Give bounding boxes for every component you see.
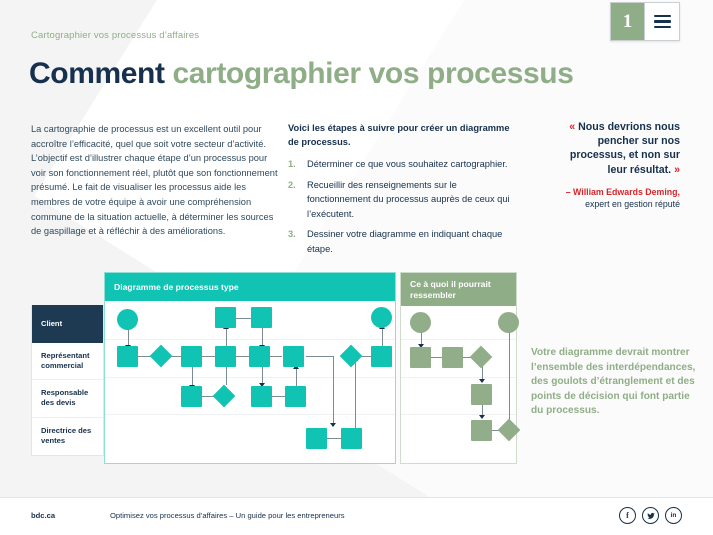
social-links: f in bbox=[619, 507, 682, 524]
twitter-icon[interactable] bbox=[642, 507, 659, 524]
main-panel-canvas bbox=[105, 301, 395, 464]
node-rep-task-4 bbox=[249, 346, 270, 367]
page-title: Comment cartographier vos processus bbox=[29, 57, 574, 91]
alt-node-decision-2 bbox=[498, 419, 521, 442]
page-title-green: cartographier vos processus bbox=[172, 57, 573, 90]
lane-label-quote-manager: Responsable des devis bbox=[32, 380, 103, 418]
pull-quote: « Nous devrions nous pencher sur nos pro… bbox=[550, 120, 680, 211]
node-end-client bbox=[371, 307, 392, 328]
quote-author-role: expert en gestion réputé bbox=[585, 199, 680, 209]
steps-lead: Voici les étapes à suivre pour créer un … bbox=[288, 121, 520, 149]
alt-node-task-2 bbox=[442, 347, 463, 368]
facebook-icon[interactable]: f bbox=[619, 507, 636, 524]
step-text: Déterminer ce que vous souhaitez cartogr… bbox=[307, 157, 508, 172]
page-badge[interactable]: 1 bbox=[610, 2, 680, 41]
intro-paragraph: La cartographie de processus est un exce… bbox=[31, 122, 281, 239]
lane-label-sales-director: Directrice des ventes bbox=[32, 418, 103, 456]
lane-label-sales-rep: Représentant commercial bbox=[32, 343, 103, 381]
quote-close-mark: » bbox=[674, 164, 680, 176]
footer-brand[interactable]: bdc.ca bbox=[31, 511, 55, 520]
step-number: 3. bbox=[288, 227, 300, 256]
lane-label-client: Client bbox=[32, 305, 103, 343]
slide-page: 1 Cartographier vos processus d’affaires… bbox=[0, 0, 713, 535]
node-rep-task-1 bbox=[117, 346, 138, 367]
node-quote-task-1 bbox=[181, 386, 202, 407]
alt-panel-canvas bbox=[401, 306, 516, 464]
alt-diagram-panel: Ce à quoi il pourrait ressembler bbox=[400, 272, 517, 464]
list-item: 1. Déterminer ce que vous souhaitez cart… bbox=[288, 157, 520, 172]
alt-node-task-3 bbox=[471, 384, 492, 405]
list-item: 3. Dessiner votre diagramme en indiquant… bbox=[288, 227, 520, 256]
node-rep-task-6 bbox=[371, 346, 392, 367]
node-rep-decision-1 bbox=[150, 345, 173, 368]
page-number: 1 bbox=[611, 3, 644, 40]
list-item: 2. Recueillir des renseignements sur le … bbox=[288, 178, 520, 222]
node-client-task-2 bbox=[251, 307, 272, 328]
alt-node-start bbox=[410, 312, 431, 333]
hamburger-icon[interactable] bbox=[644, 3, 679, 40]
breadcrumb-kicker: Cartographier vos processus d’affaires bbox=[31, 30, 199, 41]
step-text: Dessiner votre diagramme en indiquant ch… bbox=[307, 227, 520, 256]
lane-labels: Client Représentant commercial Responsab… bbox=[31, 305, 104, 456]
node-quote-task-3 bbox=[285, 386, 306, 407]
alt-node-task-4 bbox=[471, 420, 492, 441]
alt-panel-title: Ce à quoi il pourrait ressembler bbox=[401, 273, 516, 306]
steps-column: Voici les étapes à suivre pour créer un … bbox=[288, 121, 520, 263]
quote-author: – William Edwards Deming, bbox=[566, 187, 680, 197]
node-client-task-1 bbox=[215, 307, 236, 328]
step-text: Recueillir des renseignements sur le fon… bbox=[307, 178, 520, 222]
linkedin-icon[interactable]: in bbox=[665, 507, 682, 524]
steps-list: 1. Déterminer ce que vous souhaitez cart… bbox=[288, 157, 520, 257]
node-quote-task-2 bbox=[251, 386, 272, 407]
alt-node-decision-1 bbox=[470, 346, 493, 369]
footer-text: Optimisez vos processus d’affaires – Un … bbox=[110, 511, 345, 520]
quote-open-mark: « bbox=[569, 121, 575, 133]
node-rep-task-5 bbox=[283, 346, 304, 367]
footer: bdc.ca Optimisez vos processus d’affaire… bbox=[0, 498, 713, 535]
quote-text: Nous devrions nous pencher sur nos proce… bbox=[570, 121, 680, 176]
quote-text-block: « Nous devrions nous pencher sur nos pro… bbox=[550, 120, 680, 177]
node-rep-decision-2 bbox=[340, 345, 363, 368]
alt-node-task-1 bbox=[410, 347, 431, 368]
step-number: 1. bbox=[288, 157, 300, 172]
node-quote-decision-1 bbox=[213, 385, 236, 408]
alt-node-end bbox=[498, 312, 519, 333]
node-start-client bbox=[117, 309, 138, 330]
node-director-task-2 bbox=[341, 428, 362, 449]
main-panel-title: Diagramme de processus type bbox=[105, 273, 395, 301]
main-diagram-panel: Diagramme de processus type bbox=[104, 272, 396, 464]
side-note: Votre diagramme devrait montrer l’ensemb… bbox=[531, 346, 703, 419]
node-director-task-1 bbox=[306, 428, 327, 449]
quote-attribution: – William Edwards Deming, expert en gest… bbox=[550, 186, 680, 211]
node-rep-task-2 bbox=[181, 346, 202, 367]
node-rep-task-3 bbox=[215, 346, 236, 367]
step-number: 2. bbox=[288, 178, 300, 222]
page-title-dark: Comment bbox=[29, 57, 165, 90]
